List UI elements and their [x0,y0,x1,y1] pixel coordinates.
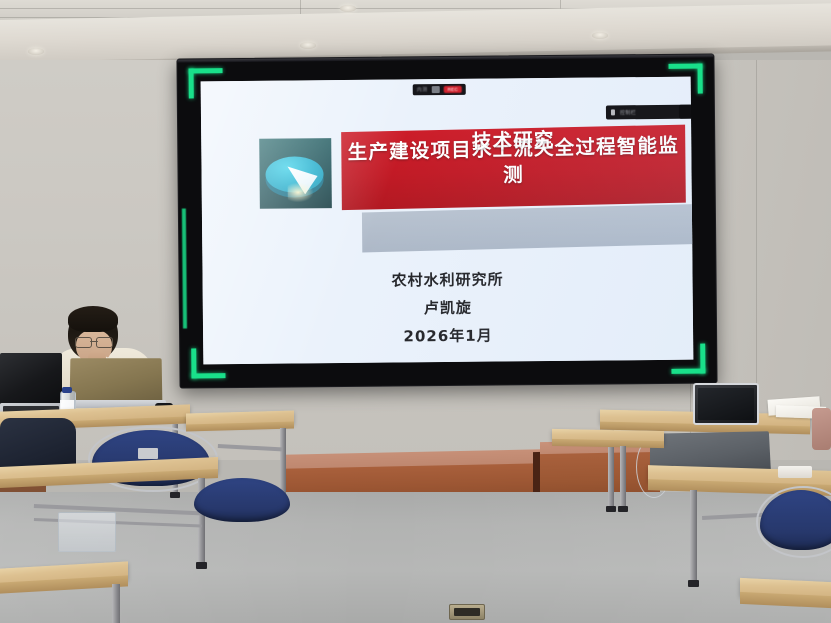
share-bracket-top-left-icon [189,68,223,98]
bottle-cap [62,387,72,393]
desk-leg [690,490,697,582]
laptop-silver-screen [0,353,62,405]
ceiling-downlight-icon [340,5,356,12]
control-bar-label: 控制栏 [620,109,636,116]
slide-subtitle-bar [362,204,693,253]
person-hair [68,306,118,332]
tablet-screen [698,388,754,420]
presentation-toolbar[interactable]: 内测 REC [413,84,467,96]
ceiling-downlight-icon [300,42,316,49]
chair [194,478,290,522]
pie-glow [288,182,314,202]
toolbar-icon[interactable] [432,86,440,93]
share-bracket-top-right-icon [669,64,703,94]
tv-screen[interactable]: 生产建设项目水土流失全过程智能监测 技术研究 农村水利研究所 卢凯旋 2026年… [201,77,694,365]
slide-date: 2026年1月 [203,320,693,352]
slide-author-block: 农村水利研究所 卢凯旋 2026年1月 [202,265,693,353]
desk-foot [196,562,207,569]
control-bar-icon[interactable] [611,109,615,115]
tablet-on-stand [693,383,759,425]
record-badge[interactable]: REC [444,86,463,93]
presentation-slide[interactable]: 生产建设项目水土流失全过程智能监测 技术研究 农村水利研究所 卢凯旋 2026年… [201,77,694,365]
share-bracket-bottom-right-icon [671,344,705,374]
room-photo-scene: 生产建设项目水土流失全过程智能监测 技术研究 农村水利研究所 卢凯旋 2026年… [0,0,831,623]
ceiling-downlight-icon [592,32,608,39]
desk-foot [688,580,699,587]
desk-leg [112,584,120,623]
storage-tray [58,512,116,552]
floor-socket [449,604,485,620]
pink-bag [812,408,831,450]
share-bracket-bottom-left-icon [191,348,225,378]
slide-title-band: 生产建设项目水土流失全过程智能监测 技术研究 [341,125,686,211]
desk-foot [170,492,180,498]
glasses-icon [75,337,113,346]
toolbar-label: 内测 [417,86,428,93]
chair-tag [138,448,158,459]
desk-foot [618,506,628,512]
desk-leg [620,446,626,508]
wall-corner-seam [756,60,757,400]
pie-chart-logo [259,138,332,209]
laptop-gold [70,358,163,404]
white-box [778,466,812,478]
desk-foot [606,506,616,512]
wall-mounted-tv[interactable]: 生产建设项目水土流失全过程智能监测 技术研究 农村水利研究所 卢凯旋 2026年… [176,53,717,388]
ceiling-downlight-icon [28,48,44,55]
